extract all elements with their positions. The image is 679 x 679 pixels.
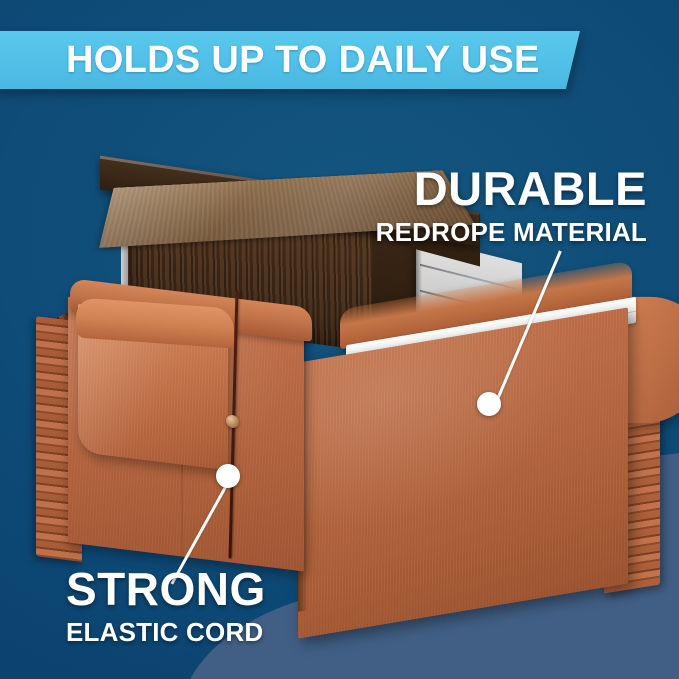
callout-label-durable: DURABLE REDROPE MATERIAL <box>376 165 647 245</box>
callout-title-durable: DURABLE <box>376 165 647 212</box>
callout-title-strong: STRONG <box>66 566 266 612</box>
right-wallet-texture <box>298 307 628 638</box>
callout-dot-strong[interactable] <box>216 464 240 488</box>
right-wallet-front-panel <box>298 307 628 638</box>
file-wallet-left <box>36 297 304 559</box>
headline-banner: HOLDS UP TO DAILY USE <box>0 31 580 89</box>
banner-headline: HOLDS UP TO DAILY USE <box>66 31 540 89</box>
infographic-canvas: HOLDS UP TO DAILY USE DURABLE REDROPE MA… <box>0 0 679 679</box>
file-wallet-right <box>288 285 678 630</box>
callout-subtitle-durable: REDROPE MATERIAL <box>376 219 647 245</box>
callout-label-strong: STRONG ELASTIC CORD <box>66 566 266 645</box>
callout-subtitle-strong: ELASTIC CORD <box>66 619 266 645</box>
callout-dot-durable[interactable] <box>477 392 501 416</box>
